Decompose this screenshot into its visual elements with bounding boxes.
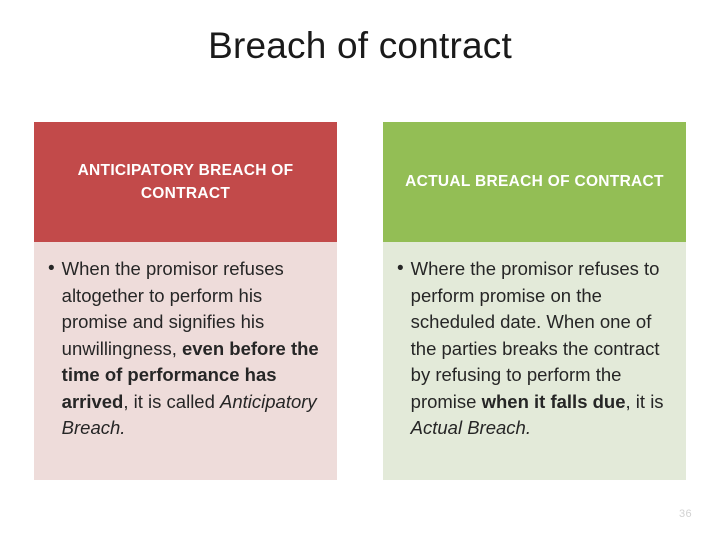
list-item: • Where the promisor refuses to perform … (397, 256, 672, 442)
card-body-actual-breach: • Where the promisor refuses to perform … (383, 242, 686, 480)
slide-canvas: Breach of contract ANTICIPATORY BREACH O… (0, 0, 720, 539)
card-header-actual-breach: ACTUAL BREACH OF CONTRACT (383, 122, 686, 242)
card-text-anticipatory-breach: When the promisor refuses altogether to … (62, 256, 323, 442)
page-number: 36 (679, 508, 692, 520)
bullet-icon: • (397, 256, 411, 283)
list-item: • When the promisor refuses altogether t… (48, 256, 323, 442)
card-actual-breach: ACTUAL BREACH OF CONTRACT • Where the pr… (383, 122, 686, 480)
bullet-icon: • (48, 256, 62, 283)
comparison-cards: ANTICIPATORY BREACH OF CONTRACT • When t… (34, 122, 686, 480)
card-text-actual-breach: Where the promisor refuses to perform pr… (411, 256, 672, 442)
card-header-anticipatory-breach: ANTICIPATORY BREACH OF CONTRACT (34, 122, 337, 242)
card-anticipatory-breach: ANTICIPATORY BREACH OF CONTRACT • When t… (34, 122, 337, 480)
card-body-anticipatory-breach: • When the promisor refuses altogether t… (34, 242, 337, 480)
page-title: Breach of contract (0, 26, 720, 67)
